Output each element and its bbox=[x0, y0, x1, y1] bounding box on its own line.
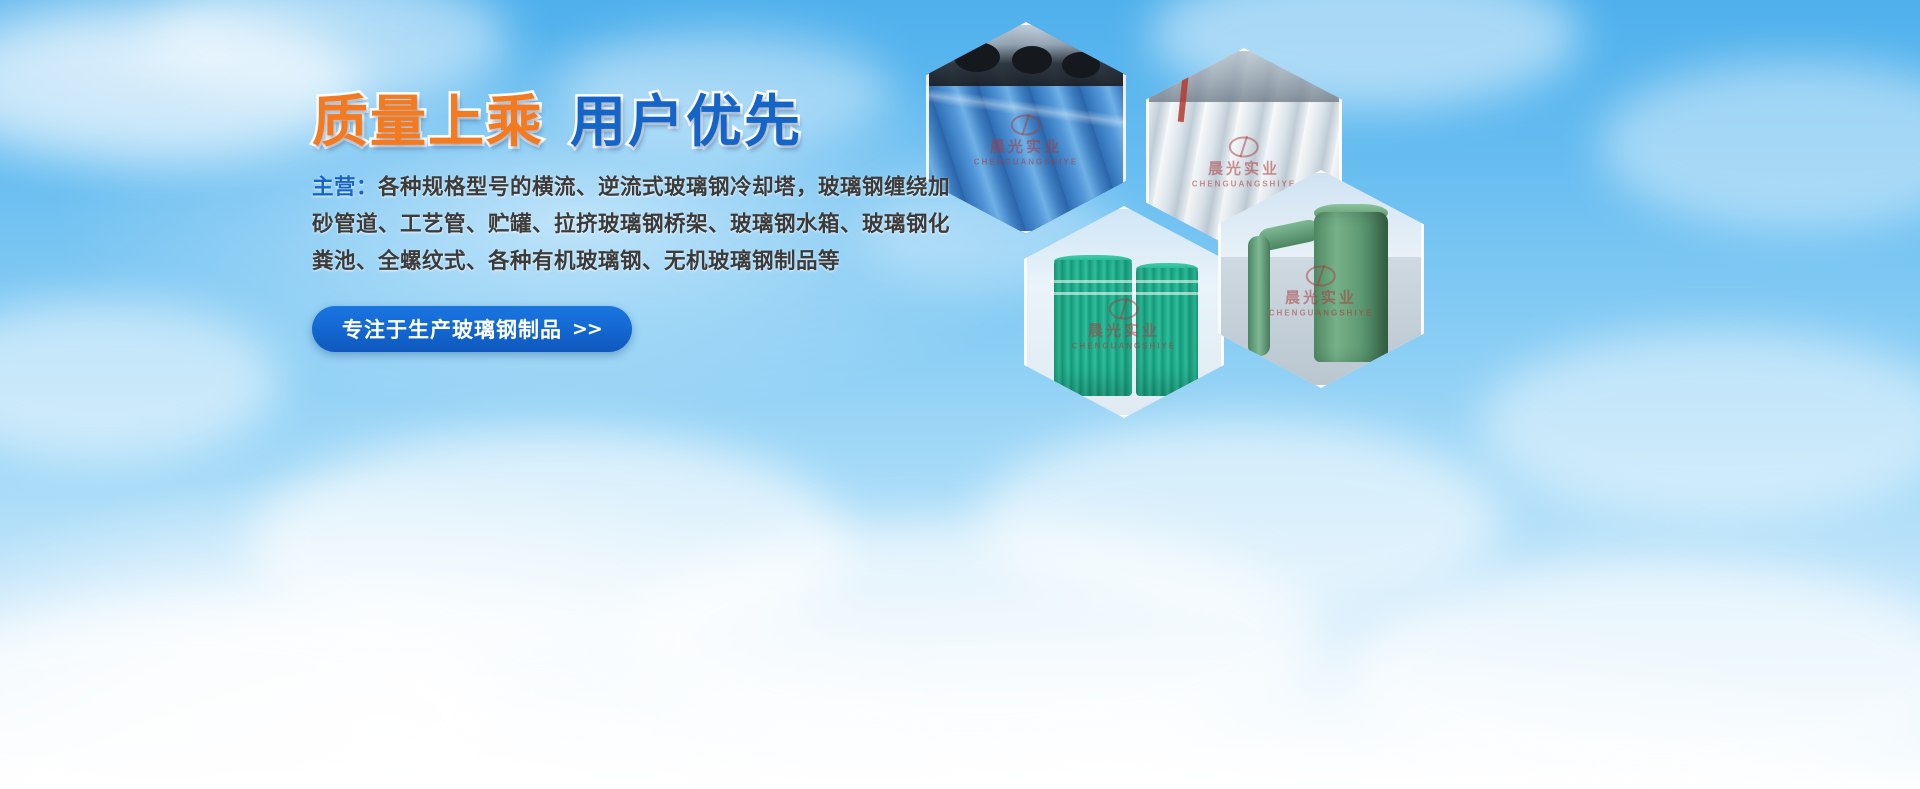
cloud-decoration bbox=[0, 10, 360, 160]
cta-button-label: 专注于生产玻璃钢制品 bbox=[342, 314, 562, 344]
cloud-decoration bbox=[0, 300, 280, 460]
photo-detail bbox=[1050, 280, 1200, 283]
chevron-right-double-icon: >> bbox=[572, 318, 602, 340]
cloud-decoration bbox=[1350, 560, 1920, 789]
cloud-decoration bbox=[980, 420, 1500, 620]
product-photo-blue-frp-pipes[interactable]: 晨光实业 CHENGUANGSHIYE bbox=[926, 22, 1126, 234]
photo-detail bbox=[1248, 236, 1270, 356]
product-photo-cluster: 晨光实业 CHENGUANGSHIYE 晨光实业 CHENGUANGSHIYE bbox=[918, 10, 1438, 410]
banner-headline: 质量上乘用户优先 bbox=[312, 92, 912, 155]
banner-description: 主营：各种规格型号的横流、逆流式玻璃钢冷却塔，玻璃钢缠绕加 砂管道、工艺管、贮罐… bbox=[312, 169, 912, 280]
banner-text-block: 质量上乘用户优先 主营：各种规格型号的横流、逆流式玻璃钢冷却塔，玻璃钢缠绕加 砂… bbox=[312, 92, 912, 352]
photo-detail bbox=[1062, 52, 1100, 78]
description-line-3: 粪池、全螺纹式、各种有机玻璃钢、无机玻璃钢制品等 bbox=[312, 243, 912, 280]
photo-image bbox=[1024, 206, 1224, 418]
photo-detail bbox=[1314, 212, 1388, 362]
product-photo-green-cooling-towers[interactable]: 晨光实业 CHENGUANGSHIYE bbox=[1024, 206, 1224, 418]
cta-button[interactable]: 专注于生产玻璃钢制品 >> bbox=[312, 306, 632, 352]
cloud-decoration bbox=[1600, 60, 1920, 230]
photo-detail bbox=[1146, 48, 1342, 102]
photo-detail bbox=[954, 42, 1000, 72]
description-line-2: 砂管道、工艺管、贮罐、拉挤玻璃钢桥架、玻璃钢水箱、玻璃钢化 bbox=[312, 206, 912, 243]
cloud-decoration bbox=[1480, 330, 1920, 520]
headline-part-2: 用户优先 bbox=[570, 90, 802, 155]
cloud-decoration bbox=[150, 0, 510, 100]
headline-part-1: 质量上乘 bbox=[312, 90, 544, 155]
cloud-decoration bbox=[620, 520, 1320, 760]
photo-image bbox=[926, 22, 1126, 234]
photo-detail bbox=[1012, 46, 1052, 74]
photo-detail bbox=[1050, 292, 1200, 295]
promo-banner: 质量上乘用户优先 主营：各种规格型号的横流、逆流式玻璃钢冷却塔，玻璃钢缠绕加 砂… bbox=[0, 0, 1920, 789]
description-line-1-text: 各种规格型号的横流、逆流式玻璃钢冷却塔，玻璃钢缠绕加 bbox=[378, 175, 950, 200]
description-line-1: 主营：各种规格型号的横流、逆流式玻璃钢冷却塔，玻璃钢缠绕加 bbox=[312, 169, 912, 206]
cloud-decoration bbox=[0, 600, 500, 789]
description-lead-label: 主营： bbox=[312, 175, 378, 200]
photo-detail bbox=[1136, 268, 1198, 396]
cloud-decoration bbox=[250, 430, 850, 660]
